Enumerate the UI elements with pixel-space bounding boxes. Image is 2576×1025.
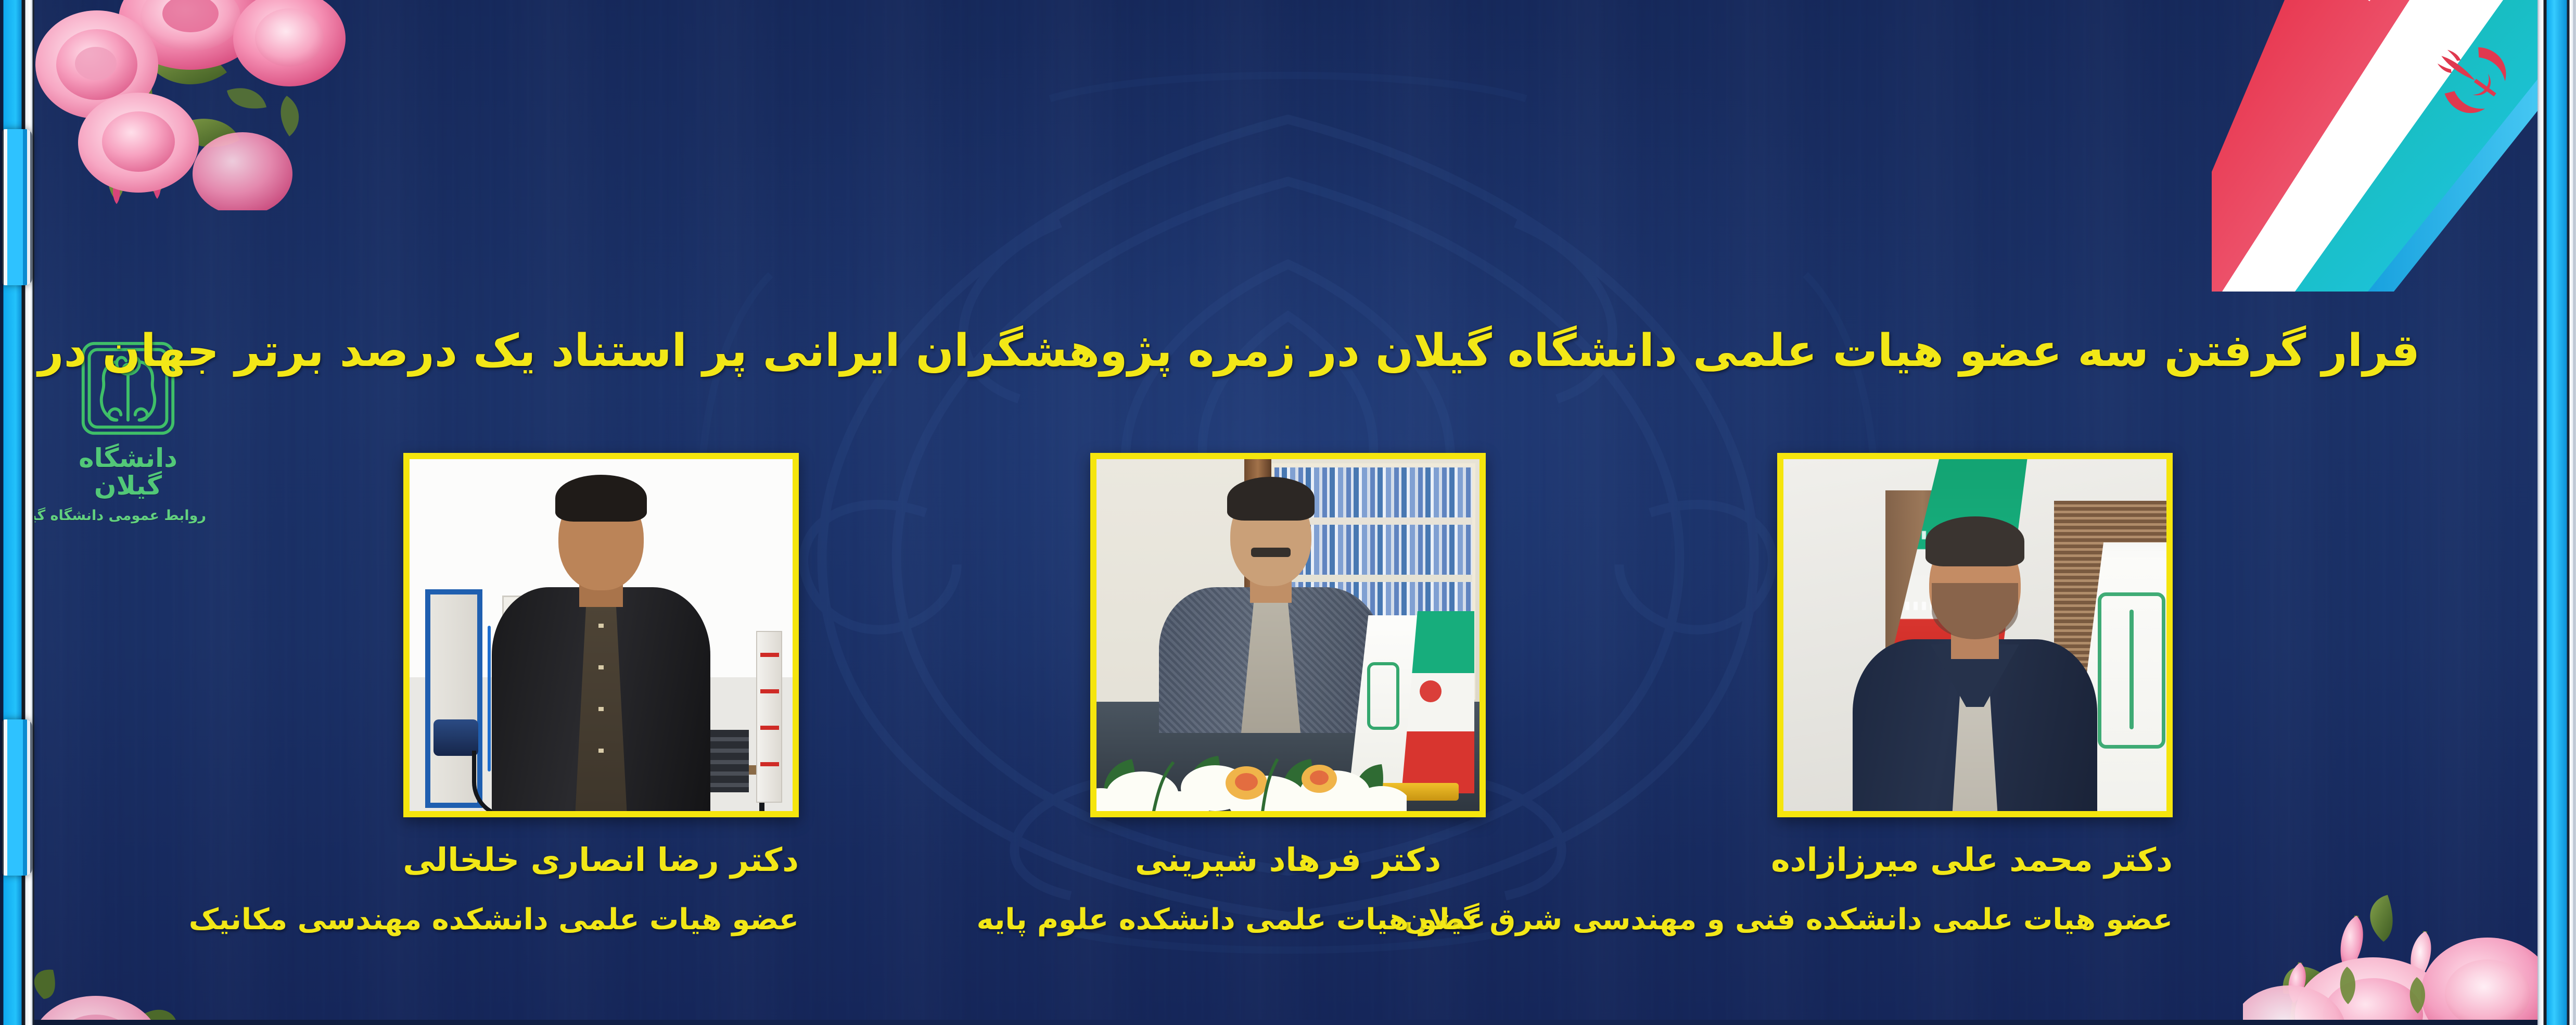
- photo-reza-ansari-khalkhali: [410, 459, 793, 811]
- roses-bottom-left: [28, 968, 184, 1025]
- flower-bouquet: [1090, 686, 1407, 816]
- researcher-role: عضو هیات علمی دانشکده مهندسی مکانیک: [403, 903, 799, 937]
- researcher-row: دکتر محمد علی میرزازاده عضو هیات علمی دا…: [0, 453, 2576, 937]
- left-edge-plate-bottom: [2, 719, 32, 876]
- banner-root: دانشگاه گیلان روابط عمومی دانشگاه گیلان …: [0, 0, 2576, 1025]
- photo-frame: [1777, 453, 2173, 817]
- researcher-name: دکتر محمد علی میرزازاده: [1777, 841, 2173, 878]
- iran-flag-corner: [2212, 0, 2576, 292]
- photo-frame: [403, 453, 799, 817]
- right-edge-stripe: [2537, 0, 2576, 1025]
- left-edge-plate-top: [2, 129, 32, 285]
- researcher-card: دکتر رضا انصاری خلخالی عضو هیات علمی دان…: [403, 453, 799, 937]
- photo-farhad-shirini: [1096, 459, 1480, 811]
- researcher-name: دکتر رضا انصاری خلخالی: [403, 841, 799, 878]
- researcher-caption: دکتر فرهاد شیرینی عضو هیات علمی دانشکده …: [1090, 841, 1486, 937]
- researcher-card: دکتر محمد علی میرزازاده عضو هیات علمی دا…: [1777, 453, 2173, 937]
- bottom-rail: [0, 1020, 2576, 1025]
- researcher-role: عضو هیات علمی دانشکده علوم پایه: [1090, 903, 1486, 937]
- roses-top-left: [19, 0, 352, 210]
- photo-frame: [1090, 453, 1486, 817]
- researcher-card: دکتر فرهاد شیرینی عضو هیات علمی دانشکده …: [1090, 453, 1486, 937]
- researcher-name: دکتر فرهاد شیرینی: [1090, 841, 1486, 878]
- researcher-caption: دکتر رضا انصاری خلخالی عضو هیات علمی دان…: [403, 841, 799, 937]
- photo-mohammad-ali-mirzazadeh: [1783, 459, 2166, 811]
- page-title: قرار گرفتن سه عضو هیات علمی دانشگاه گیلا…: [198, 325, 2420, 377]
- researcher-caption: دکتر محمد علی میرزازاده عضو هیات علمی دا…: [1777, 841, 2173, 937]
- researcher-role: عضو هیات علمی دانشکده فنی و مهندسی شرق گ…: [1777, 903, 2173, 937]
